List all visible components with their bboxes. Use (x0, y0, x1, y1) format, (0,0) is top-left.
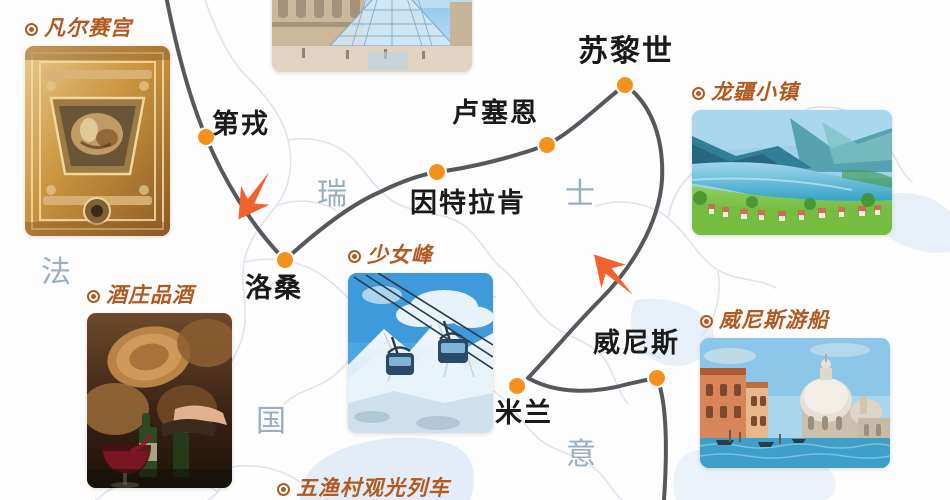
city-venice-label: 威尼斯 (593, 330, 680, 357)
ring-icon (25, 23, 38, 36)
ring-icon (692, 87, 705, 100)
poi-winery[interactable]: 酒庄品酒 (87, 285, 232, 488)
poi-cinque-terre-title: 五渔村观光列车 (277, 478, 450, 499)
city-venice-marker[interactable] (649, 370, 665, 386)
city-lausanne-marker[interactable] (277, 252, 293, 268)
poi-jungfrau[interactable]: 少女峰 (348, 245, 493, 433)
poi-jungfrau-photo[interactable] (348, 273, 493, 433)
poi-venice-cruise-photo[interactable] (700, 338, 890, 468)
city-milan-marker[interactable] (509, 378, 525, 394)
city-dijon-label: 第戎 (212, 111, 270, 138)
poi-winery-title: 酒庄品酒 (87, 285, 232, 306)
poi-lungern[interactable]: 龙疆小镇 (692, 82, 892, 235)
poi-winery-photo[interactable] (87, 313, 232, 488)
poi-lungern-title: 龙疆小镇 (692, 82, 892, 103)
poi-cinque-terre[interactable]: 五渔村观光列车 (277, 478, 450, 500)
city-interlaken-label: 因特拉肯 (410, 190, 526, 217)
poi-venice-cruise-title: 威尼斯游船 (700, 310, 890, 331)
poi-versailles-title: 凡尔赛宫 (25, 18, 170, 39)
poi-versailles-photo[interactable] (25, 46, 170, 236)
city-zurich-label: 苏黎世 (578, 37, 674, 67)
city-milan-label: 米兰 (495, 400, 553, 427)
travel-route-map: 瑞 士 法 国 意 凡尔赛宫 (0, 0, 950, 500)
city-zurich-marker[interactable] (617, 77, 633, 93)
poi-louvre-photo[interactable] (272, 0, 472, 72)
ring-icon (277, 483, 290, 496)
city-interlaken-marker[interactable] (429, 164, 445, 180)
poi-jungfrau-title: 少女峰 (348, 245, 493, 266)
city-lausanne-label: 洛桑 (245, 275, 303, 302)
city-lucerne-marker[interactable] (539, 137, 555, 153)
poi-louvre[interactable] (272, 0, 472, 72)
ring-icon (87, 290, 100, 303)
poi-lungern-photo[interactable] (692, 110, 892, 235)
poi-versailles[interactable]: 凡尔赛宫 (25, 18, 170, 236)
ring-icon (700, 315, 713, 328)
poi-venice-cruise[interactable]: 威尼斯游船 (700, 310, 890, 468)
city-lucerne-label: 卢塞恩 (452, 100, 539, 127)
ring-icon (348, 250, 361, 263)
